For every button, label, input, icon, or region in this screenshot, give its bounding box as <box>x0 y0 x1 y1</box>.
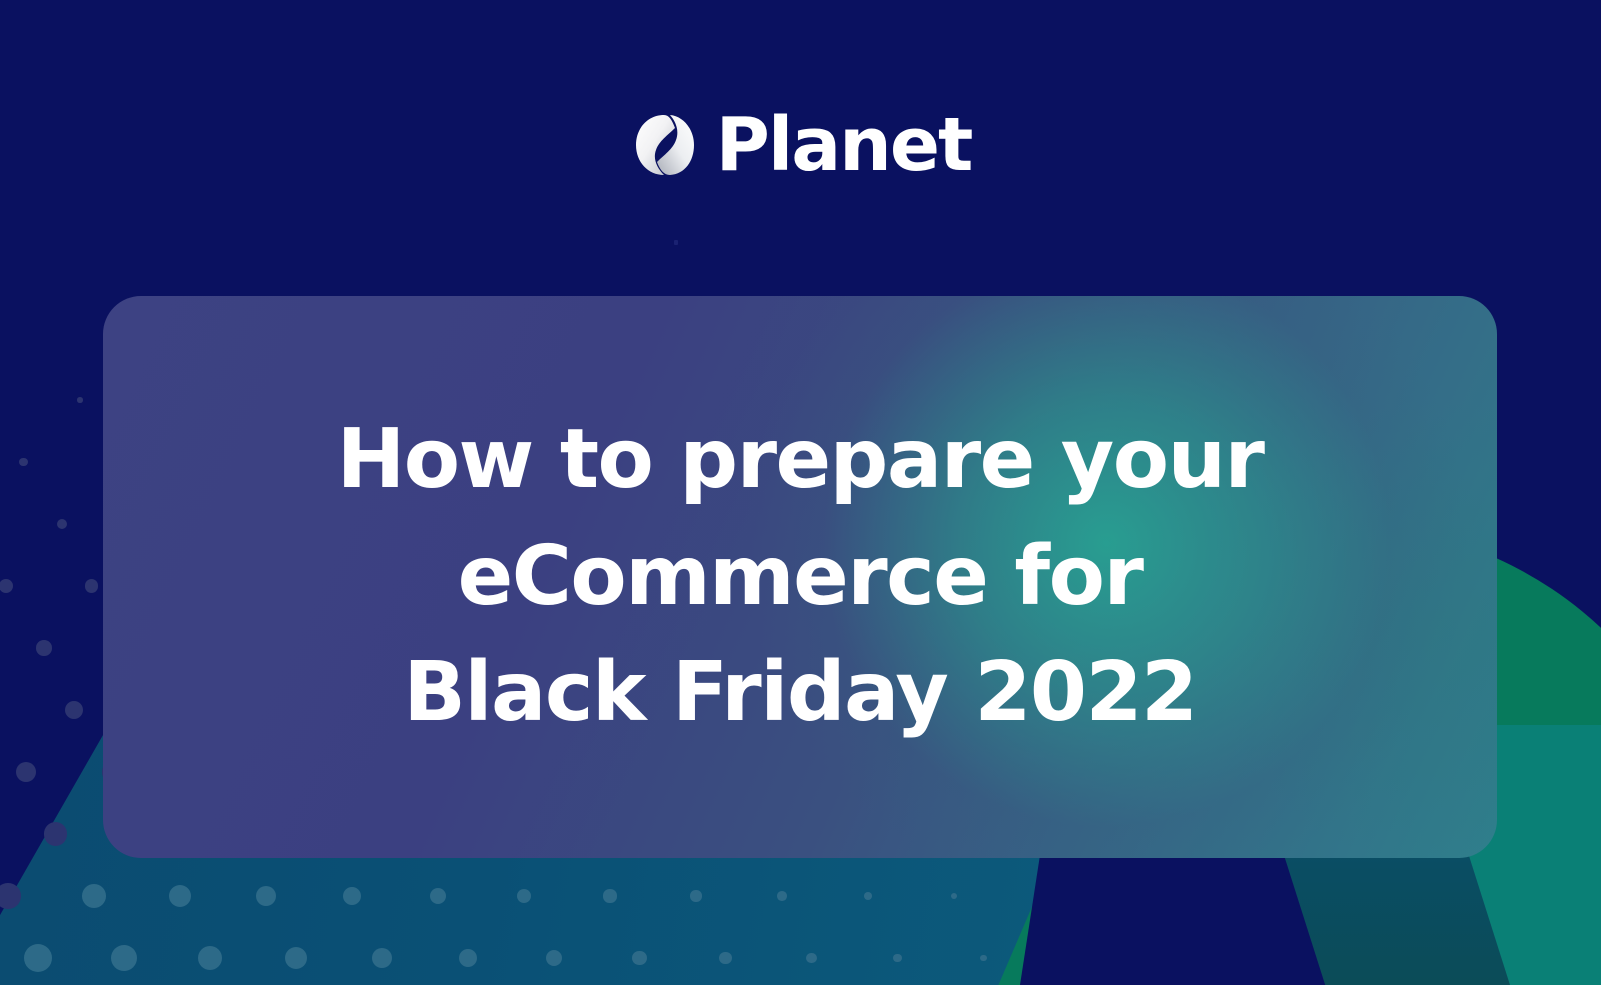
planet-wordmark: Planet <box>716 108 972 182</box>
planet-logo-mark <box>630 109 698 181</box>
decorative-dot <box>0 883 21 909</box>
decorative-dot <box>19 458 28 467</box>
decorative-dot <box>0 579 13 593</box>
decorative-dot <box>430 888 447 905</box>
decorative-dot <box>459 949 477 967</box>
decorative-dot <box>690 890 701 901</box>
decorative-dot <box>285 947 307 969</box>
hero-title-line-2: eCommerce for <box>337 519 1264 635</box>
decorative-dot <box>546 950 562 966</box>
decorative-dot <box>864 892 872 900</box>
decorative-dot <box>111 945 137 971</box>
decorative-dot <box>372 948 392 968</box>
decorative-dot <box>16 762 37 783</box>
decorative-dot <box>57 519 68 530</box>
hero-title: How to prepare your eCommerce for Black … <box>297 402 1304 751</box>
decorative-dot <box>806 953 817 964</box>
decorative-dot <box>719 952 731 964</box>
decorative-dot <box>951 893 957 899</box>
hero-card: How to prepare your eCommerce for Black … <box>103 296 1497 858</box>
decorative-dot <box>65 701 83 719</box>
decorative-dot <box>517 889 532 904</box>
hero-title-line-3: Black Friday 2022 <box>337 635 1264 751</box>
decorative-dot <box>980 955 987 962</box>
decorative-dot <box>256 886 276 906</box>
background-speck <box>674 240 678 245</box>
decorative-dot <box>36 640 52 656</box>
decorative-dot <box>24 944 52 972</box>
decorative-dot <box>632 951 646 965</box>
decorative-dot <box>777 891 787 901</box>
decorative-dot <box>198 946 222 970</box>
decorative-dot <box>44 822 67 845</box>
hero-title-line-1: How to prepare your <box>337 402 1264 518</box>
decorative-dot <box>893 954 902 963</box>
decorative-dot <box>169 885 191 907</box>
decorative-dot <box>82 884 106 908</box>
planet-logo-lockup[interactable]: Planet <box>0 108 1601 182</box>
decorative-dot <box>603 889 616 902</box>
decorative-dot <box>85 579 98 592</box>
decorative-dot <box>343 887 361 905</box>
slide-canvas: Planet How to prepare your eCommerce for… <box>0 0 1601 985</box>
decorative-dot <box>77 397 82 402</box>
